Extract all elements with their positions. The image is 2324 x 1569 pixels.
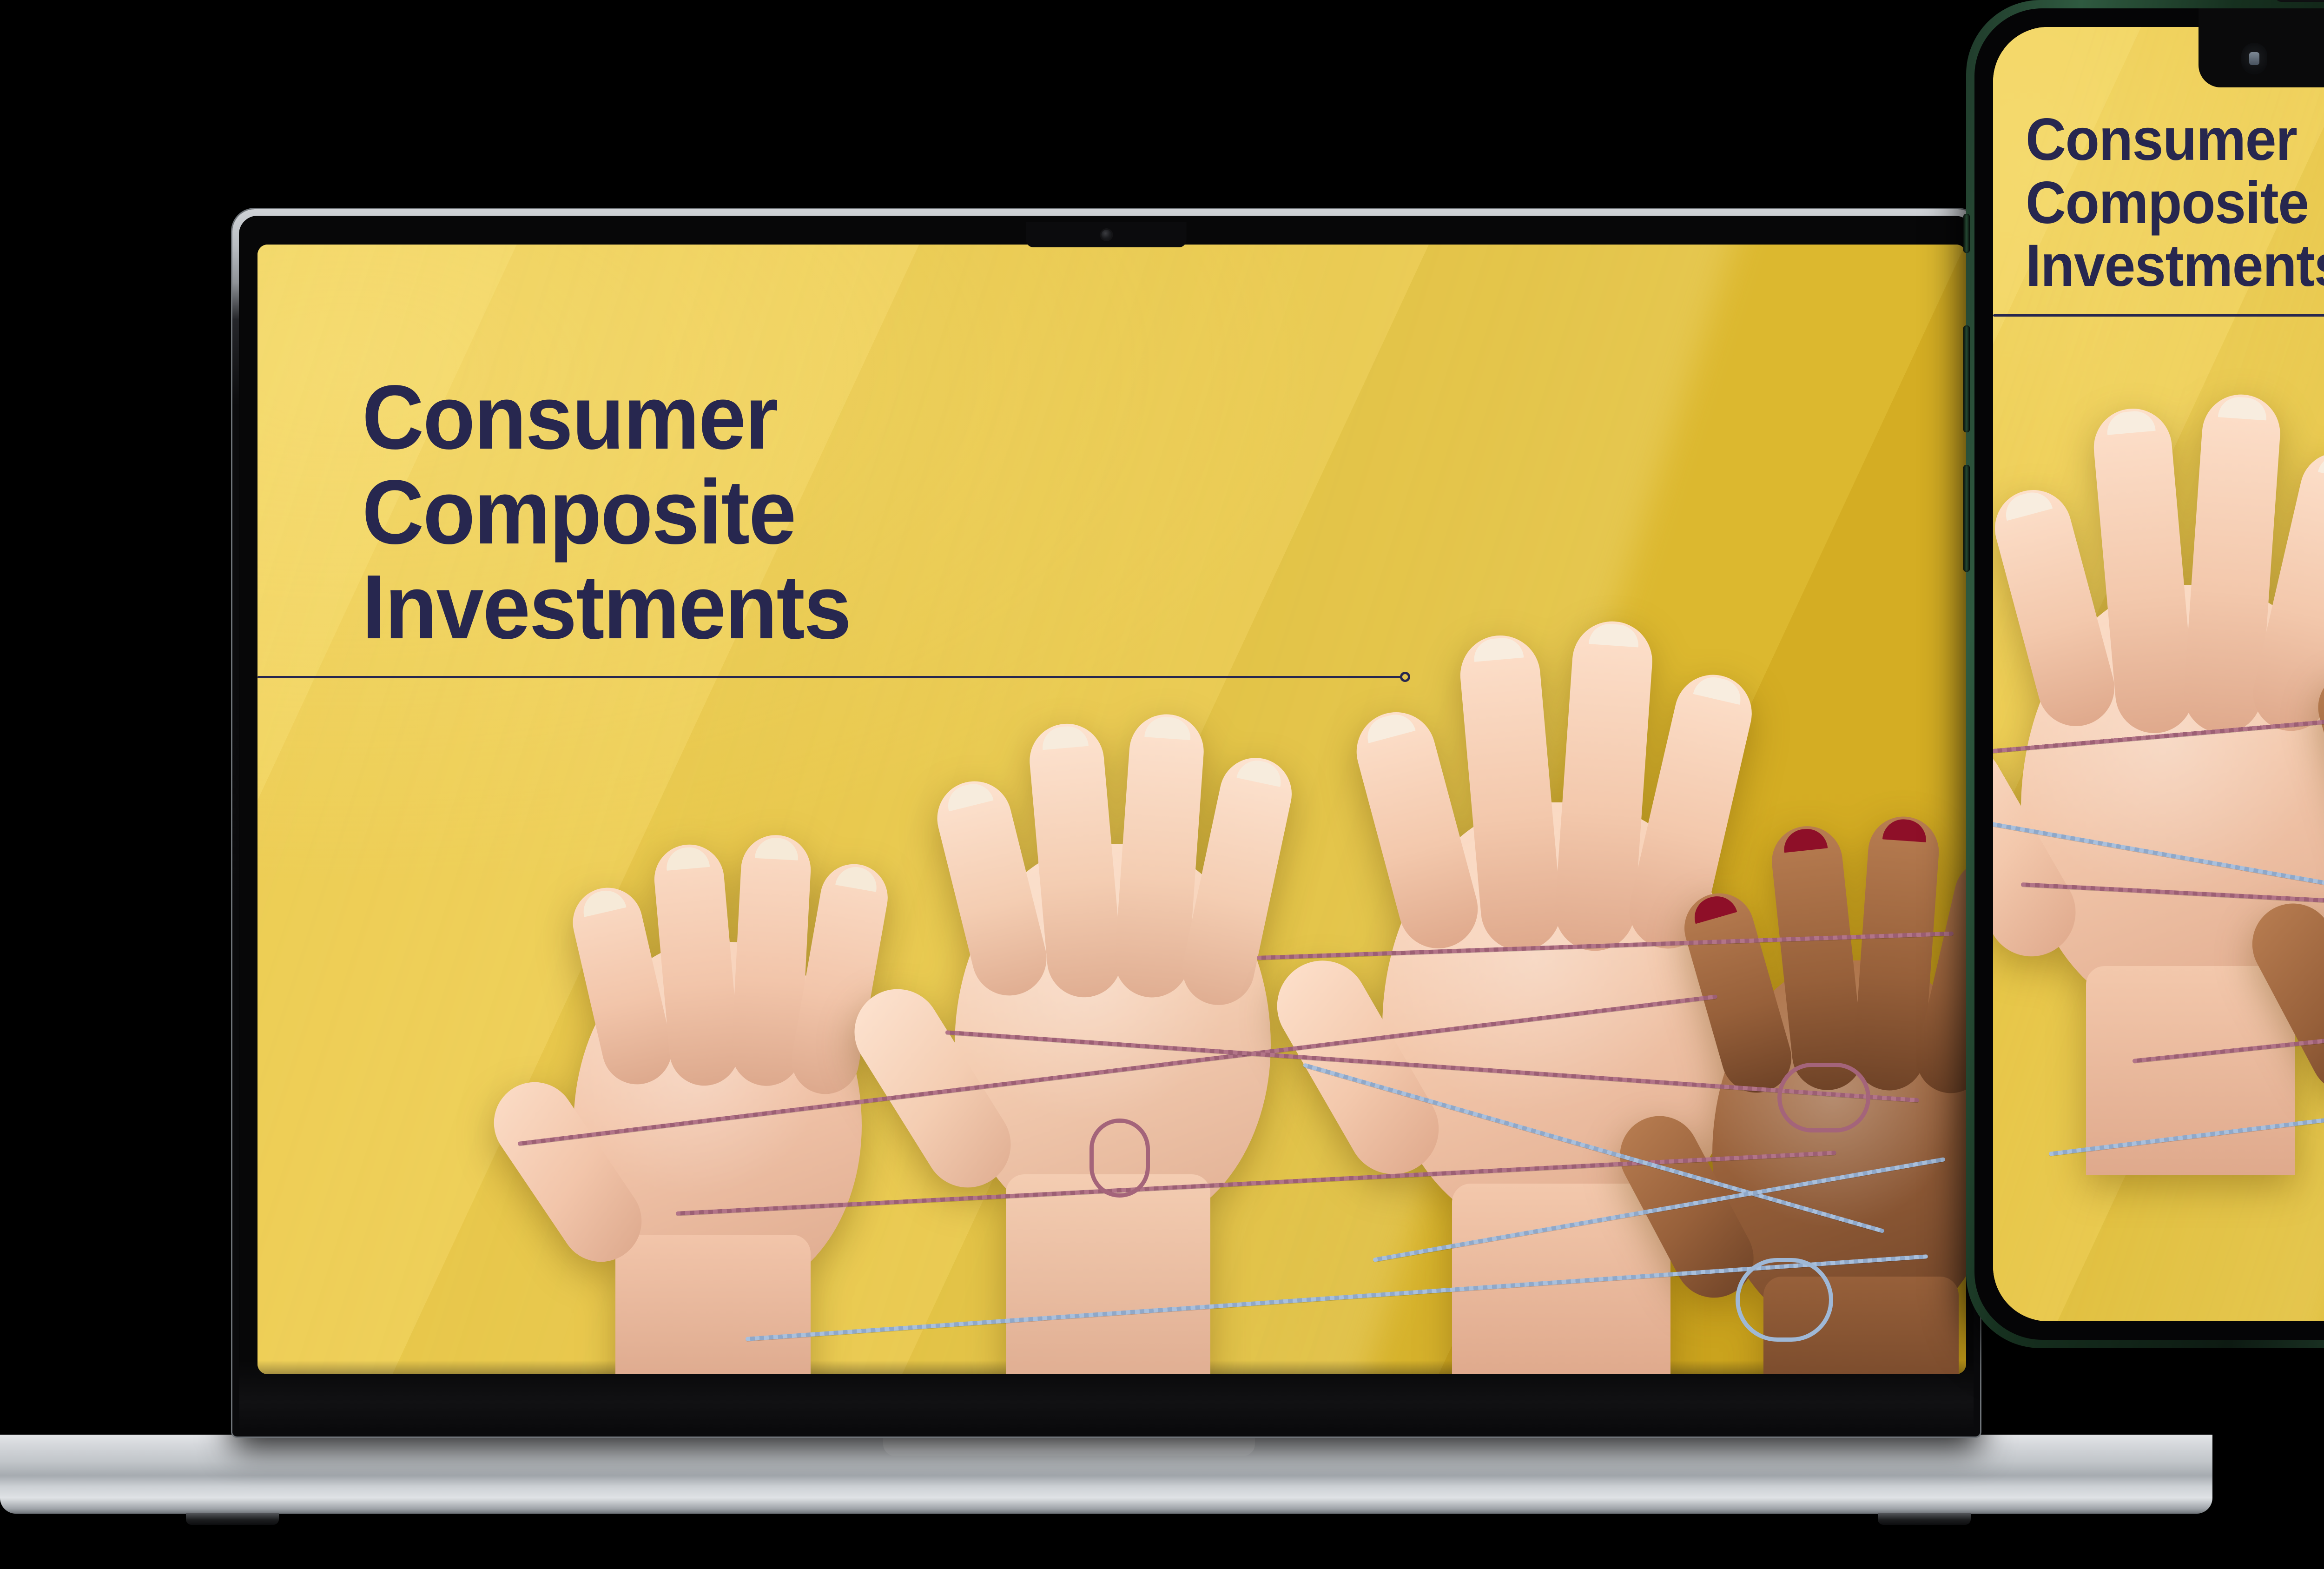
phone-notch [2199, 8, 2324, 87]
headline-line-1: Consumer [362, 370, 851, 465]
phone-body: Consumer Composite Investments [1974, 8, 2324, 1340]
underline-bar [257, 676, 1401, 678]
underline-bar [1993, 314, 2324, 317]
slide-artwork-desktop: Consumer Composite Investments [257, 245, 1966, 1374]
headline-line-2: Composite [2026, 172, 2324, 235]
laptop-hinge-shadow [239, 1360, 1974, 1430]
underline-endpoint-dot [1400, 672, 1410, 682]
phone-volume-up-button[interactable] [1963, 325, 1970, 432]
phone-silent-switch[interactable] [1963, 214, 1970, 253]
laptop-foot-left [186, 1513, 279, 1525]
phone-mockup: Consumer Composite Investments [1966, 0, 2324, 1348]
headline-line-3: Investments [2026, 234, 2324, 298]
laptop-mockup: Consumer Composite Investments [232, 209, 1980, 1464]
webcam-icon [1101, 230, 1111, 240]
laptop-bezel: Consumer Composite Investments [239, 216, 1974, 1430]
slide-artwork-mobile: Consumer Composite Investments [1993, 27, 2324, 1321]
laptop-screen[interactable]: Consumer Composite Investments [257, 245, 1966, 1374]
headline-line-2: Composite [362, 465, 851, 560]
mockup-scene: Consumer Composite Investments [0, 0, 2324, 1569]
laptop-camera-notch [1026, 222, 1187, 247]
phone-volume-down-button[interactable] [1963, 465, 1970, 572]
earpiece-speaker-icon [2275, 0, 2324, 2]
phone-frame: Consumer Composite Investments [1966, 0, 2324, 1348]
headline-line-1: Consumer [2026, 108, 2324, 172]
phone-screen[interactable]: Consumer Composite Investments [1993, 27, 2324, 1321]
laptop-lid: Consumer Composite Investments [232, 209, 1980, 1437]
laptop-base [0, 1435, 2212, 1514]
headline-line-3: Investments [362, 560, 851, 655]
laptop-lid-groove [883, 1435, 1255, 1456]
slide-headline: Consumer Composite Investments [362, 370, 882, 654]
slide-headline: Consumer Composite Investments [2026, 108, 2324, 298]
front-camera-icon [2241, 43, 2267, 74]
laptop-foot-right [1878, 1513, 1971, 1525]
